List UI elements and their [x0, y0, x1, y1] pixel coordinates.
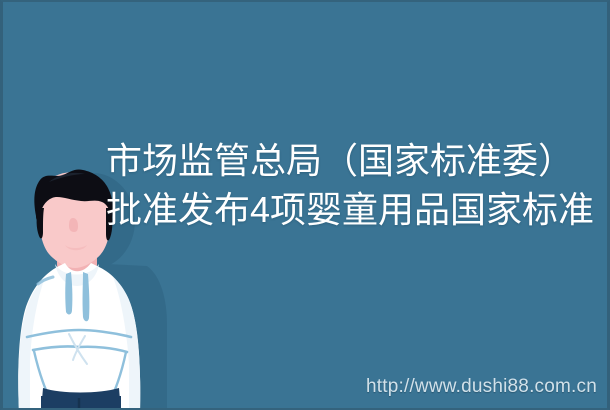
figure-head: [39, 172, 111, 268]
figure-hoodie: [18, 263, 140, 410]
figure-pants: [41, 388, 121, 410]
page-title: 市场监管总局（国家标准委）批准发布4项婴童用品国家标准: [106, 136, 604, 234]
figure-hair: [34, 169, 113, 240]
article-cover-image: 市场监管总局（国家标准委）批准发布4项婴童用品国家标准 http://www.d…: [0, 0, 610, 410]
source-url-watermark: http://www.dushi88.com.cn: [366, 376, 597, 398]
figure-neck: [57, 240, 97, 280]
